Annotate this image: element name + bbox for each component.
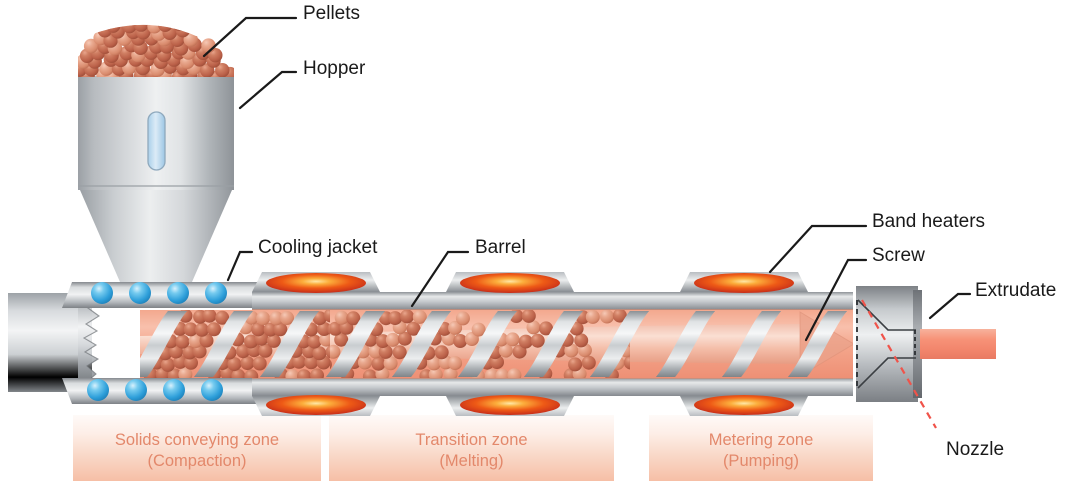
- die-body: [856, 286, 918, 402]
- callout-extrudate-label: Extrudate: [975, 281, 1056, 300]
- coolant-channel: [91, 282, 113, 304]
- band-heater: [252, 272, 380, 293]
- barrel-wall-bottom: [252, 378, 853, 396]
- zone-label-metering: Metering zone (Pumping): [649, 430, 873, 472]
- band-heater: [680, 395, 808, 416]
- pellet: [308, 335, 322, 349]
- leader-cooling-jacket: [228, 252, 252, 280]
- pellet: [172, 17, 186, 31]
- leader-band-heaters: [770, 226, 866, 272]
- pellet: [176, 335, 190, 349]
- heater-element: [460, 273, 560, 293]
- heater-element: [460, 395, 560, 415]
- extrudate-rod: [920, 329, 996, 359]
- pellet: [435, 345, 449, 359]
- band-heater: [680, 272, 808, 293]
- pellet: [161, 358, 175, 372]
- zone-name: Transition zone: [329, 430, 614, 451]
- leader-extrudate: [930, 294, 970, 318]
- zone-label-solids-conveying: Solids conveying zone (Compaction): [73, 430, 321, 472]
- hopper-sight-glass: [148, 112, 165, 170]
- heater-element: [266, 395, 366, 415]
- zone-name: Solids conveying zone: [73, 430, 321, 451]
- pellet: [388, 311, 402, 325]
- pellet: [240, 356, 254, 370]
- pellet: [456, 311, 470, 325]
- callout-band-heaters-label: Band heaters: [872, 212, 985, 231]
- coolant-channel: [129, 282, 151, 304]
- coolant-channel: [163, 379, 185, 401]
- callout-hopper-label: Hopper: [303, 59, 365, 78]
- pellet: [582, 356, 596, 370]
- band-heater: [446, 272, 574, 293]
- pellet: [448, 356, 462, 370]
- heater-element: [266, 273, 366, 293]
- pellet: [519, 335, 533, 349]
- pellet: [506, 332, 520, 346]
- pellet: [195, 323, 209, 337]
- band-heater: [252, 395, 380, 416]
- zone-label-transition: Transition zone (Melting): [329, 430, 614, 472]
- pellet: [600, 310, 614, 324]
- heater-element: [694, 273, 794, 293]
- pellet: [386, 333, 400, 347]
- coolant-channel: [125, 379, 147, 401]
- coolant-channel: [87, 379, 109, 401]
- pellet: [207, 322, 221, 336]
- pellet: [372, 357, 386, 371]
- pellet: [453, 334, 467, 348]
- heater-element: [694, 395, 794, 415]
- zone-sub: (Compaction): [73, 451, 321, 472]
- callout-barrel-label: Barrel: [475, 238, 526, 257]
- extruder-diagram: Pellets Hopper Cooling jacket Barrel Ban…: [0, 0, 1079, 492]
- band-heater: [446, 395, 574, 416]
- coolant-channel: [167, 282, 189, 304]
- pellet: [568, 357, 582, 371]
- band-heaters-top: [252, 272, 808, 293]
- pellet: [393, 345, 407, 359]
- pellet: [134, 17, 148, 31]
- leader-hopper: [240, 72, 296, 108]
- coolant-channel: [201, 379, 223, 401]
- nozzle-die-block: [856, 286, 996, 402]
- hopper: [67, 17, 238, 282]
- coolant-channel: [205, 282, 227, 304]
- pellet: [158, 18, 172, 32]
- pellet: [531, 334, 545, 348]
- barrel-wall-top: [252, 292, 853, 310]
- band-heaters-bottom: [252, 395, 808, 416]
- pellet: [106, 19, 120, 33]
- callout-nozzle-label: Nozzle: [946, 440, 1004, 459]
- pellet: [400, 309, 414, 323]
- zone-name: Metering zone: [649, 430, 873, 451]
- zone-sub: (Melting): [329, 451, 614, 472]
- pellet: [586, 310, 600, 324]
- callout-cooling-jacket-label: Cooling jacket: [258, 238, 377, 257]
- pellet: [522, 309, 536, 323]
- pellet: [203, 309, 217, 323]
- zone-sub: (Pumping): [649, 451, 873, 472]
- callout-pellets-label: Pellets: [303, 4, 360, 23]
- pellet-heap: [67, 17, 238, 85]
- pellet: [253, 357, 267, 371]
- pellet: [256, 311, 270, 325]
- callout-screw-label: Screw: [872, 246, 925, 265]
- hopper-cone: [80, 190, 232, 282]
